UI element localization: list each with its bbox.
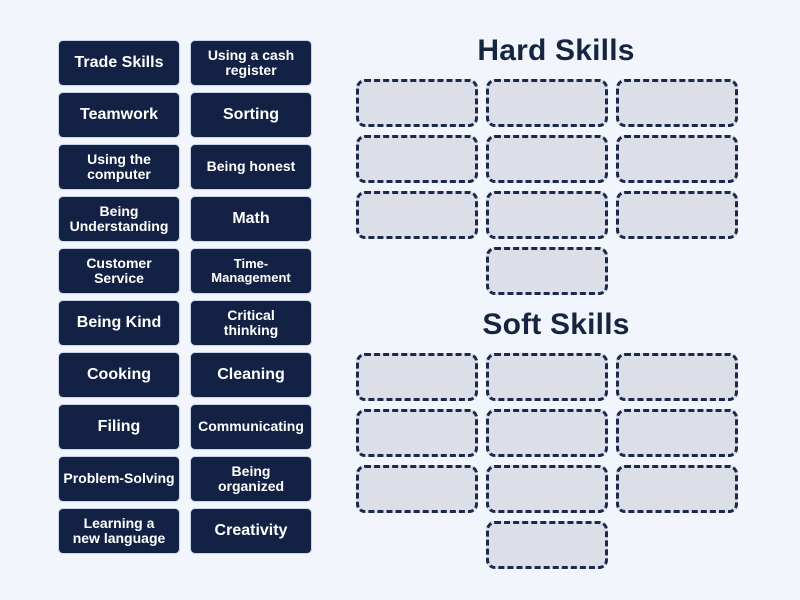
skill-tile[interactable]: Being organized bbox=[190, 456, 312, 502]
skill-tile[interactable]: Math bbox=[190, 196, 312, 242]
hard-skills-dropzone-grid bbox=[356, 79, 756, 239]
soft-skills-dropzone[interactable] bbox=[486, 409, 608, 457]
soft-skills-dropzone[interactable] bbox=[356, 409, 478, 457]
skills-word-bank: Trade SkillsUsing a cash registerTeamwor… bbox=[58, 40, 316, 554]
hard-skills-panel: Hard Skills bbox=[356, 34, 756, 295]
soft-skills-dropzone[interactable] bbox=[486, 521, 608, 569]
skill-tile[interactable]: Problem-Solving bbox=[58, 456, 180, 502]
hard-skills-dropzone[interactable] bbox=[486, 79, 608, 127]
skill-tile[interactable]: Critical thinking bbox=[190, 300, 312, 346]
hard-skills-dropzone[interactable] bbox=[356, 79, 478, 127]
skill-tile[interactable]: Using the computer bbox=[58, 144, 180, 190]
soft-skills-dropzone[interactable] bbox=[486, 353, 608, 401]
hard-skills-dropzone[interactable] bbox=[486, 247, 608, 295]
skill-tile[interactable]: Filing bbox=[58, 404, 180, 450]
soft-skills-title: Soft Skills bbox=[356, 308, 756, 342]
skill-tile[interactable]: Being honest bbox=[190, 144, 312, 190]
skill-tile[interactable]: Cleaning bbox=[190, 352, 312, 398]
skill-tile[interactable]: Customer Service bbox=[58, 248, 180, 294]
skill-tile[interactable]: Trade Skills bbox=[58, 40, 180, 86]
skill-tile[interactable]: Being Kind bbox=[58, 300, 180, 346]
soft-skills-dropzone[interactable] bbox=[616, 353, 738, 401]
soft-skills-dropzone-grid bbox=[356, 353, 756, 513]
hard-skills-dropzone[interactable] bbox=[616, 135, 738, 183]
skill-tile[interactable]: Creativity bbox=[190, 508, 312, 554]
soft-skills-dropzone[interactable] bbox=[356, 465, 478, 513]
hard-skills-title: Hard Skills bbox=[356, 34, 756, 68]
skill-tile[interactable]: Cooking bbox=[58, 352, 180, 398]
skill-tile[interactable]: Learning a new language bbox=[58, 508, 180, 554]
hard-skills-dropzone-tail bbox=[356, 247, 756, 295]
hard-skills-dropzone[interactable] bbox=[616, 79, 738, 127]
hard-skills-dropzone[interactable] bbox=[486, 191, 608, 239]
soft-skills-panel: Soft Skills bbox=[356, 308, 756, 569]
hard-skills-dropzone[interactable] bbox=[486, 135, 608, 183]
hard-skills-dropzone[interactable] bbox=[356, 191, 478, 239]
skill-tile[interactable]: Sorting bbox=[190, 92, 312, 138]
soft-skills-dropzone[interactable] bbox=[356, 353, 478, 401]
skill-tile[interactable]: Being Understanding bbox=[58, 196, 180, 242]
soft-skills-dropzone[interactable] bbox=[616, 465, 738, 513]
soft-skills-dropzone[interactable] bbox=[486, 465, 608, 513]
hard-skills-dropzone[interactable] bbox=[616, 191, 738, 239]
soft-skills-dropzone-tail bbox=[356, 521, 756, 569]
skill-tile[interactable]: Communicating bbox=[190, 404, 312, 450]
hard-skills-dropzone[interactable] bbox=[356, 135, 478, 183]
skill-tile[interactable]: Teamwork bbox=[58, 92, 180, 138]
skill-tile[interactable]: Time-Management bbox=[190, 248, 312, 294]
soft-skills-dropzone[interactable] bbox=[616, 409, 738, 457]
skill-tile[interactable]: Using a cash register bbox=[190, 40, 312, 86]
